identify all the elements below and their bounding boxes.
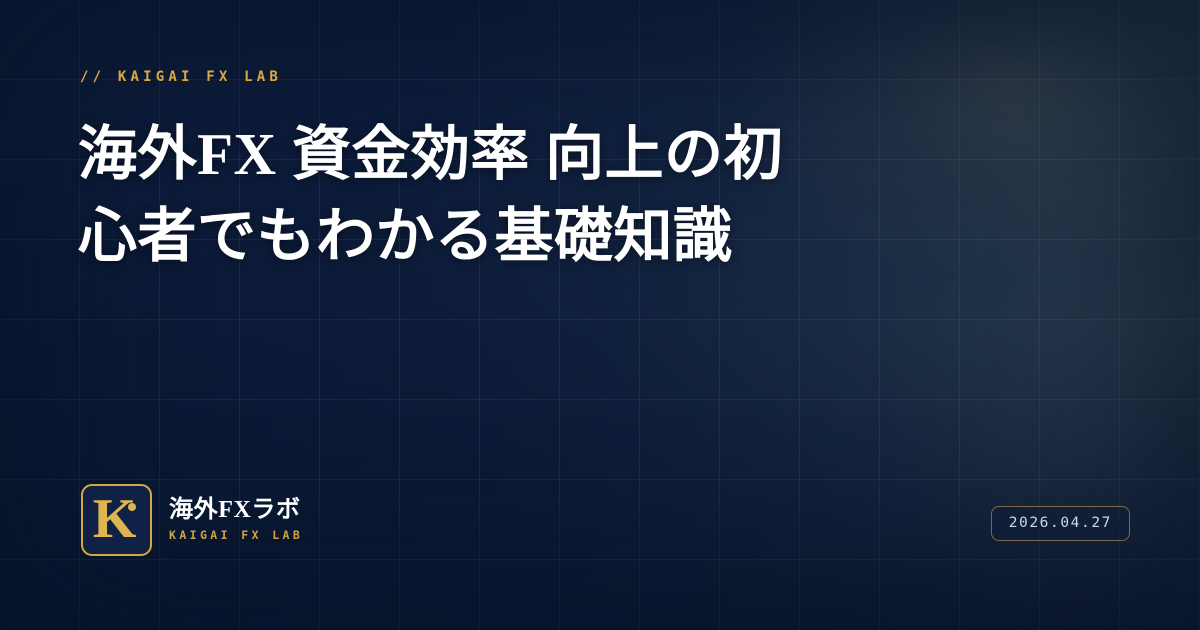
- brand-name-en: KAIGAI FX LAB: [169, 528, 303, 542]
- brand-lockup: K 海外FXラボ KAIGAI FX LAB: [81, 484, 303, 556]
- page-title-line-1: 海外FX 資金効率 向上の初: [78, 113, 868, 195]
- page-title: 海外FX 資金効率 向上の初 心者でもわかる基礎知識: [78, 113, 868, 277]
- eyebrow-label: // KAIGAI FX LAB: [80, 69, 282, 85]
- k-monogram-icon: K: [93, 491, 137, 547]
- logo-mark: K: [81, 484, 152, 556]
- page-title-line-2: 心者でもわかる基礎知識: [78, 195, 868, 277]
- content-layer: // KAIGAI FX LAB 海外FX 資金効率 向上の初 心者でもわかる基…: [0, 0, 1200, 630]
- og-image-canvas: // KAIGAI FX LAB 海外FX 資金効率 向上の初 心者でもわかる基…: [0, 0, 1200, 630]
- brand-name-ja: 海外FXラボ: [169, 498, 303, 523]
- gold-dot-icon: [128, 503, 136, 511]
- date-badge: 2026.04.27: [991, 506, 1130, 541]
- brand-text-block: 海外FXラボ KAIGAI FX LAB: [169, 498, 303, 541]
